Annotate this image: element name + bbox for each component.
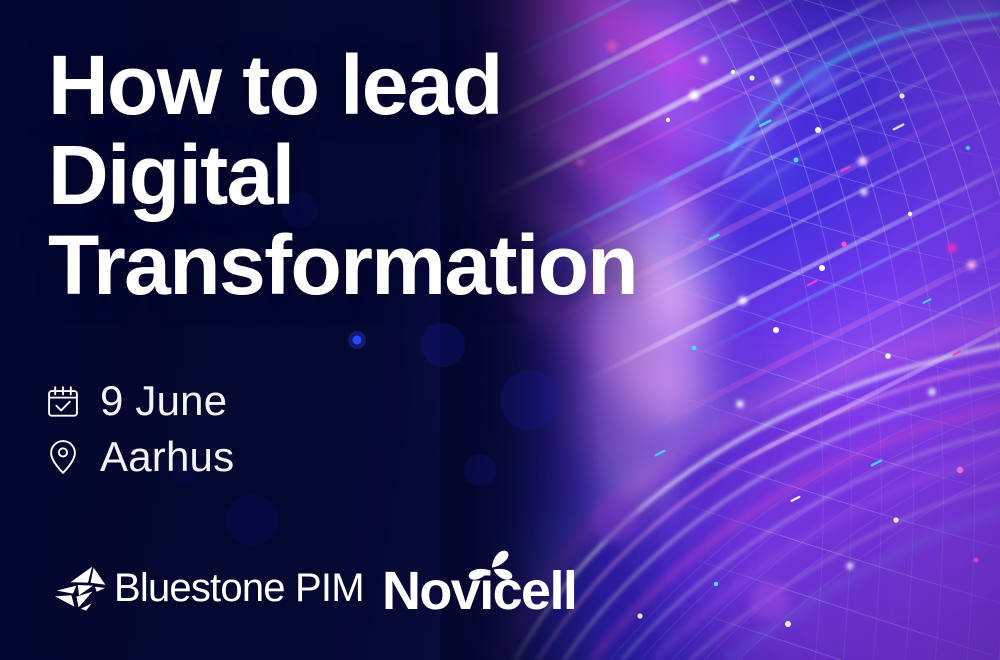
novicell-pinwheel-icon bbox=[468, 550, 514, 586]
logo-novicell[interactable]: Novicell bbox=[382, 556, 598, 618]
page-title: How to lead Digital Transformation bbox=[48, 40, 748, 310]
logo-bluestone-pim[interactable]: Bluestone PIM bbox=[52, 562, 364, 614]
event-banner: How to lead Digital Transformation 9 J bbox=[0, 0, 1000, 660]
headline-line-1: How to lead bbox=[48, 40, 748, 130]
bluestone-wordmark: Bluestone PIM bbox=[114, 567, 364, 609]
event-date-value: 9 June bbox=[100, 378, 227, 424]
banner-content: How to lead Digital Transformation 9 J bbox=[0, 0, 1000, 660]
event-details: 9 June Aarhus bbox=[46, 378, 234, 490]
map-pin-icon bbox=[46, 438, 80, 476]
headline-line-2: Digital bbox=[48, 130, 748, 220]
calendar-check-icon bbox=[46, 382, 80, 420]
event-location-value: Aarhus bbox=[100, 434, 234, 480]
event-location-row: Aarhus bbox=[46, 434, 234, 480]
headline-line-3: Transformation bbox=[48, 220, 748, 310]
bluestone-gem-icon bbox=[52, 562, 110, 614]
event-date-row: 9 June bbox=[46, 378, 234, 424]
